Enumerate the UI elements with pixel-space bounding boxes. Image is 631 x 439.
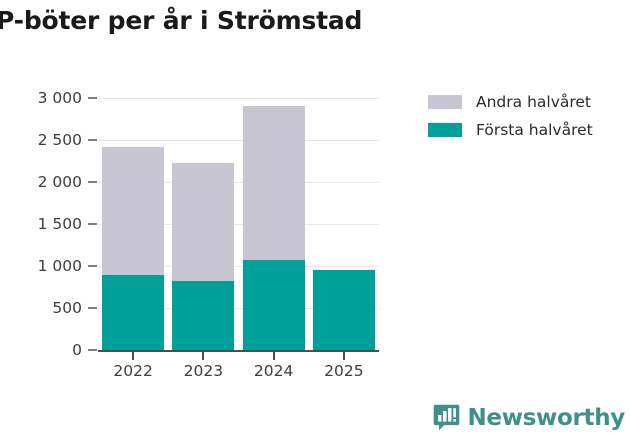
- x-axis-line: [98, 350, 379, 352]
- y-axis-tick-mark: [88, 181, 97, 183]
- newsworthy-logo[interactable]: Newsworthy: [433, 404, 625, 431]
- x-axis-tick-label: 2023: [163, 362, 243, 380]
- y-axis-tick-mark: [88, 139, 97, 141]
- bar-segment[interactable]: [172, 163, 234, 281]
- legend-label-forsta-halvaret: Första halvåret: [476, 121, 593, 139]
- newsworthy-wordmark: Newsworthy: [467, 405, 625, 431]
- y-axis-tick-mark: [88, 97, 97, 99]
- legend-item-forsta-halvaret[interactable]: Första halvåret: [428, 116, 593, 144]
- legend-label-andra-halvaret: Andra halvåret: [476, 93, 591, 111]
- legend: Andra halvåret Första halvåret: [428, 88, 593, 144]
- bar-segment[interactable]: [313, 270, 375, 350]
- x-axis-tick-label: 2022: [93, 362, 173, 380]
- legend-swatch-andra-halvaret: [428, 95, 462, 109]
- y-axis-tick-label: 2 000: [8, 173, 82, 191]
- y-axis-tick-mark: [88, 349, 97, 351]
- y-axis-tick-label: 1 000: [8, 257, 82, 275]
- bar-group[interactable]: [172, 98, 234, 350]
- y-axis: 05001 0001 5002 0002 5003 000: [0, 0, 82, 439]
- bar-group[interactable]: [102, 98, 164, 350]
- x-axis-tick-mark: [202, 352, 204, 360]
- x-axis-tick-mark: [273, 352, 275, 360]
- y-axis-tick-mark: [88, 265, 97, 267]
- bar-segment[interactable]: [102, 275, 164, 350]
- x-axis-tick-mark: [132, 352, 134, 360]
- y-axis-tick-label: 3 000: [8, 89, 82, 107]
- bar-chart-speech-bubble-icon: [433, 404, 460, 431]
- y-axis-tick-label: 500: [8, 299, 82, 317]
- bar-group[interactable]: [243, 98, 305, 350]
- bar-segment[interactable]: [243, 106, 305, 260]
- y-axis-tick-label: 0: [8, 341, 82, 359]
- bar-segment[interactable]: [243, 260, 305, 350]
- legend-item-andra-halvaret[interactable]: Andra halvåret: [428, 88, 593, 116]
- page-title: P-böter per år i Strömstad: [0, 6, 631, 35]
- bar-segment[interactable]: [102, 147, 164, 276]
- y-axis-tick-mark: [88, 223, 97, 225]
- x-axis-tick-label: 2025: [304, 362, 384, 380]
- x-axis-tick-mark: [343, 352, 345, 360]
- bar-segment[interactable]: [172, 281, 234, 350]
- bar-group[interactable]: [313, 98, 375, 350]
- y-axis-tick-label: 2 500: [8, 131, 82, 149]
- x-axis-tick-label: 2024: [234, 362, 314, 380]
- legend-swatch-forsta-halvaret: [428, 123, 462, 137]
- y-axis-tick-label: 1 500: [8, 215, 82, 233]
- y-axis-tick-mark: [88, 307, 97, 309]
